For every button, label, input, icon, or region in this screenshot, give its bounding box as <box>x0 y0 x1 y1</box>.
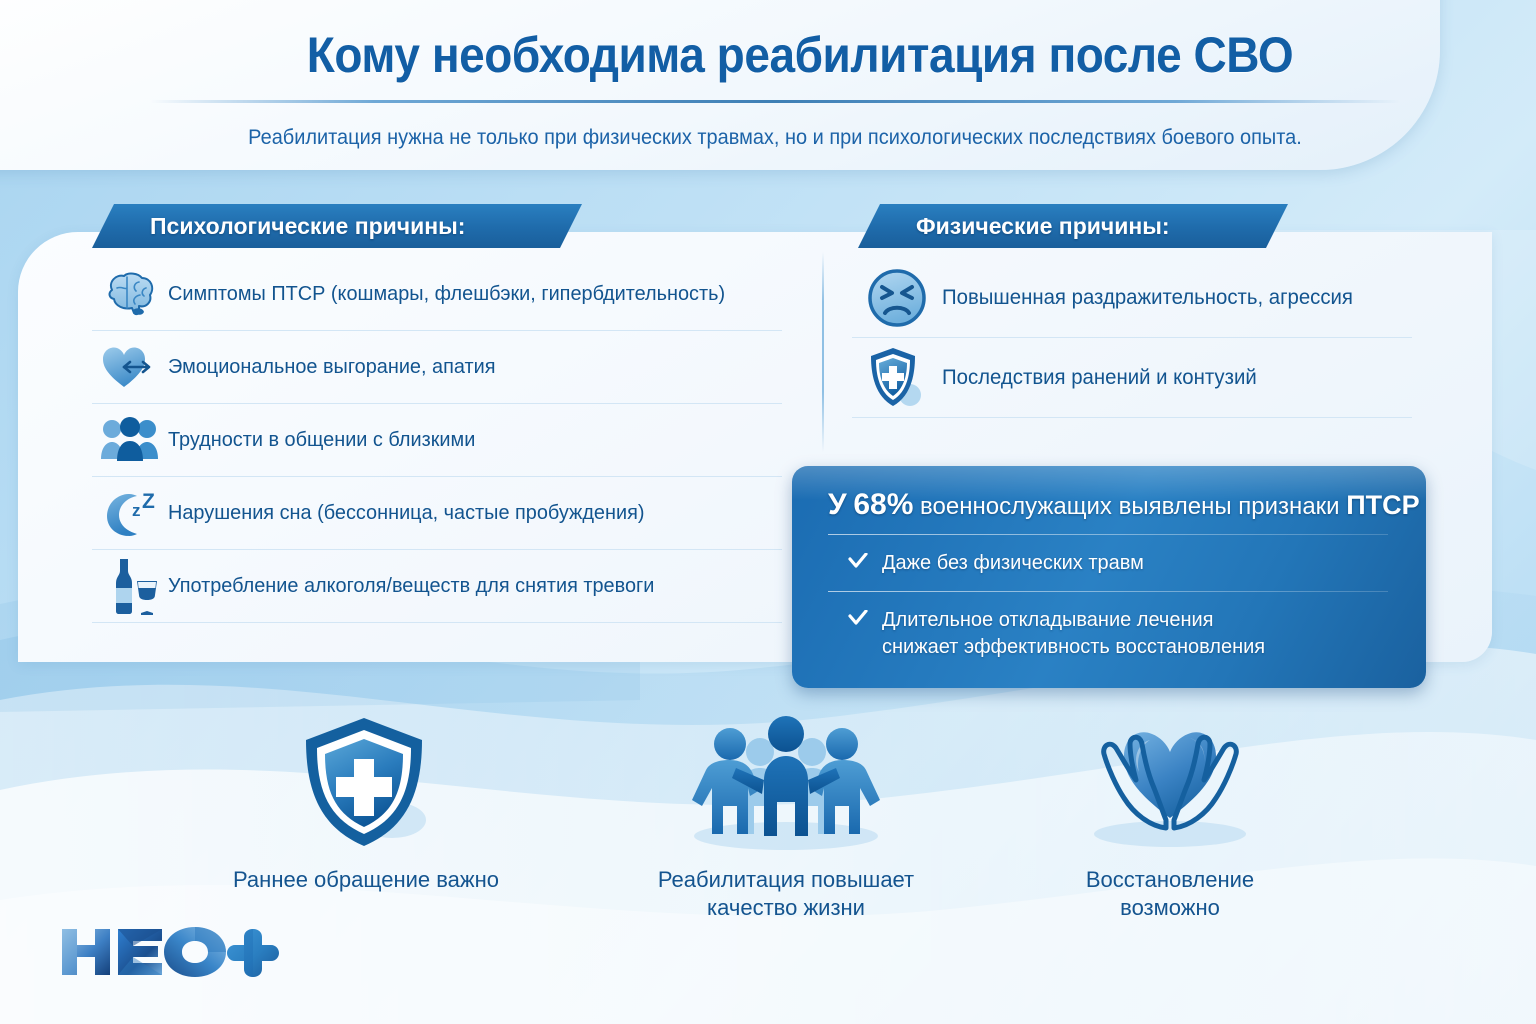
statistic-callout-box: У 68% военнослужащих выявлены признаки П… <box>792 466 1426 688</box>
banner-physical: Физические причины: <box>858 204 1288 248</box>
title-divider <box>150 100 1400 103</box>
list-item-label: Нарушения сна (бессонница, частые пробуж… <box>168 501 644 525</box>
statistic-divider <box>828 591 1388 592</box>
list-item-label: Трудности в общении с близкими <box>168 428 475 452</box>
statistic-middle-text: военнослужащих выявлены признаки <box>913 493 1346 520</box>
list-item: Трудности в общении с близкими <box>92 404 782 477</box>
feature-caption: Восстановление возможно <box>1020 866 1320 922</box>
svg-text:z: z <box>132 501 141 520</box>
feature-caption: Раннее обращение важно <box>216 866 516 894</box>
list-item: Употребление алкоголя/веществ для снятия… <box>92 550 782 623</box>
moon-sleep-icon: z Z <box>92 482 168 544</box>
feature-quality-of-life: Реабилитация повышает качество жизни <box>626 712 946 922</box>
physical-causes-list: Повышенная раздражительность, агрессия П… <box>852 258 1412 418</box>
statistic-prefix: У <box>828 488 847 521</box>
statistic-divider <box>828 534 1388 535</box>
column-divider <box>822 252 824 452</box>
feature-recovery-possible: Восстановление возможно <box>1020 712 1320 922</box>
svg-text:Z: Z <box>142 490 155 513</box>
list-item-label: Последствия ранений и контузий <box>942 366 1257 390</box>
hands-heart-icon <box>1020 712 1320 852</box>
list-item: Эмоциональное выгорание, апатия <box>92 331 782 404</box>
statistic-bullet-label: Даже без физических травм <box>882 550 1144 577</box>
list-item: Повышенная раздражительность, агрессия <box>852 258 1412 338</box>
list-item-label: Симптомы ПТСР (кошмары, флешбэки, гиперб… <box>168 282 725 306</box>
statistic-bullet-label: Длительное откладывание лечения снижает … <box>882 607 1265 661</box>
list-item: z Z Нарушения сна (бессонница, частые пр… <box>92 477 782 550</box>
shield-cross-icon <box>852 345 942 411</box>
page-title: Кому необходима реабилитация после СВО <box>230 26 1371 84</box>
statistic-percent: 68% <box>853 488 913 521</box>
brand-logo <box>58 925 288 979</box>
infographic-poster: Кому необходима реабилитация после СВО Р… <box>0 0 1536 1024</box>
statistic-headline: У 68% военнослужащих выявлены признаки П… <box>828 488 1420 522</box>
list-item-label: Повышенная раздражительность, агрессия <box>942 286 1353 310</box>
list-item-label: Эмоциональное выгорание, апатия <box>168 355 495 379</box>
bottle-glass-icon <box>92 555 168 617</box>
list-item: Симптомы ПТСР (кошмары, флешбэки, гиперб… <box>92 258 782 331</box>
page-subtitle: Реабилитация нужна не только при физичес… <box>181 126 1369 150</box>
check-icon <box>848 610 868 626</box>
statistic-bullet: Даже без физических травм <box>848 550 1144 577</box>
feature-caption: Реабилитация повышает качество жизни <box>626 866 946 922</box>
statistic-bullet: Длительное откладывание лечения снижает … <box>848 607 1265 661</box>
banner-psychological: Психологические причины: <box>92 204 582 248</box>
brain-icon <box>92 263 168 325</box>
angry-face-icon <box>852 265 942 331</box>
psychological-causes-list: Симптомы ПТСР (кошмары, флешбэки, гиперб… <box>92 258 782 623</box>
people-support-icon <box>626 712 946 852</box>
list-item: Последствия ранений и контузий <box>852 338 1412 418</box>
statistic-end-text: ПТСР <box>1346 490 1419 520</box>
check-icon <box>848 553 868 569</box>
people-group-icon <box>92 409 168 471</box>
heart-drain-icon <box>92 336 168 398</box>
list-item-label: Употребление алкоголя/веществ для снятия… <box>168 574 654 598</box>
shield-cross-large-icon <box>216 712 516 852</box>
feature-early-treatment: Раннее обращение важно <box>216 712 516 894</box>
